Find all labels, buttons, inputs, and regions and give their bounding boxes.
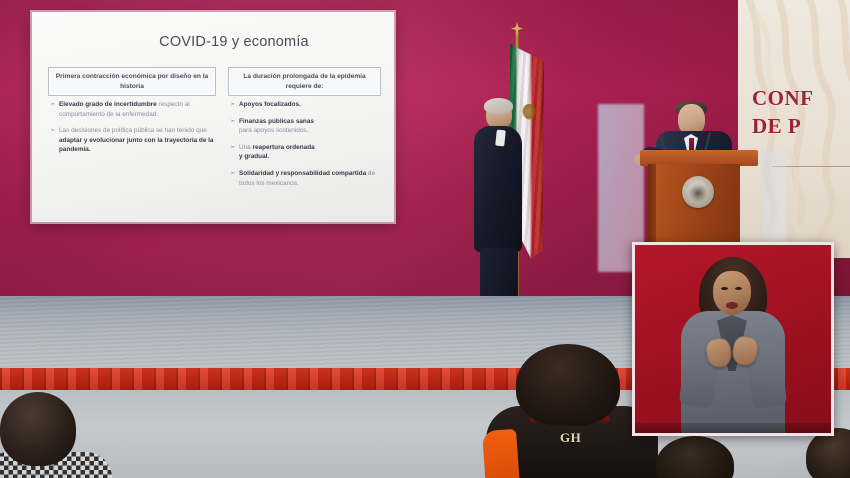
standing-official-hair <box>484 98 513 114</box>
audience-center-head <box>516 344 620 426</box>
slide: COVID-19 y economía Primera contracción … <box>32 12 394 222</box>
bullet-arrow-icon: ➣ <box>230 143 235 153</box>
bullet-arrow-icon: ➣ <box>50 100 55 110</box>
bullet-text: Las decisiones de política pública se ha… <box>59 127 214 153</box>
eagle-emblem-icon <box>687 182 709 202</box>
bullet-arrow-icon: ➣ <box>50 126 55 136</box>
bullet-text: Finanzas públicas sanaspara apoyos soste… <box>239 118 314 135</box>
slide-left-bullet-list: ➣ Elevado grado de incertidumbre respect… <box>50 100 218 162</box>
backdrop-title-text: CONF DE P <box>752 84 850 141</box>
list-item: ➣ Elevado grado de incertidumbre respect… <box>50 100 218 119</box>
interpreter-hands <box>707 337 759 377</box>
audience-member-right <box>640 436 760 478</box>
flag-finial-icon <box>510 22 524 38</box>
list-item: ➣ Apoyos focalizados. <box>230 100 380 110</box>
inset-floor-shadow <box>635 423 831 433</box>
bullet-text: Apoyos focalizados. <box>239 101 301 108</box>
sign-language-interpreter-inset <box>632 242 834 436</box>
slide-right-bullet-list: ➣ Apoyos focalizados. ➣ Finanzas pública… <box>230 100 380 195</box>
bullet-text: Elevado grado de incertidumbre respecto … <box>59 101 190 118</box>
audience-center-safety-vest <box>482 429 520 478</box>
list-item: ➣ Solidaridad y responsabilidad comparti… <box>230 169 380 188</box>
slide-right-header-box: La duración prolongada de la epidemia re… <box>228 67 381 96</box>
bullet-text: Una reapertura ordenaday gradual. <box>239 144 315 161</box>
standing-official-legs <box>480 248 518 300</box>
standing-official <box>468 100 530 308</box>
list-item: ➣ Las decisiones de política pública se … <box>50 126 218 155</box>
slide-title: COVID-19 y economía <box>32 34 394 50</box>
projection-screen: COVID-19 y economía Primera contracción … <box>32 12 394 222</box>
backdrop-title-line1: CONF <box>752 86 814 110</box>
backdrop-title-line2: DE P <box>752 112 850 140</box>
bullet-arrow-icon: ➣ <box>230 100 235 110</box>
list-item: ➣ Finanzas públicas sanaspara apoyos sos… <box>230 117 380 136</box>
interpreter-right-hand <box>731 335 759 366</box>
interpreter-left-hand <box>705 337 733 368</box>
standing-official-shirt <box>495 130 506 147</box>
broadcast-frame: CONF DE P COVID-19 y economía Primera co… <box>0 0 850 478</box>
national-seal-icon <box>682 176 714 208</box>
jacket-logo: GH <box>560 430 581 446</box>
interpreter-left-eye <box>721 287 728 290</box>
bullet-text: Solidaridad y responsabilidad compartida… <box>239 170 375 187</box>
audience-right-head <box>656 436 734 478</box>
list-item: ➣ Una reapertura ordenaday gradual. <box>230 143 380 162</box>
bullet-arrow-icon: ➣ <box>230 169 235 179</box>
slide-left-header-box: Primera contracción económica por diseño… <box>48 67 216 96</box>
audience-member-left <box>0 392 122 478</box>
bullet-arrow-icon: ➣ <box>230 117 235 127</box>
interpreter-right-eye <box>735 287 742 290</box>
audience-left-head <box>0 392 76 466</box>
interpreter-mouth <box>726 302 738 309</box>
